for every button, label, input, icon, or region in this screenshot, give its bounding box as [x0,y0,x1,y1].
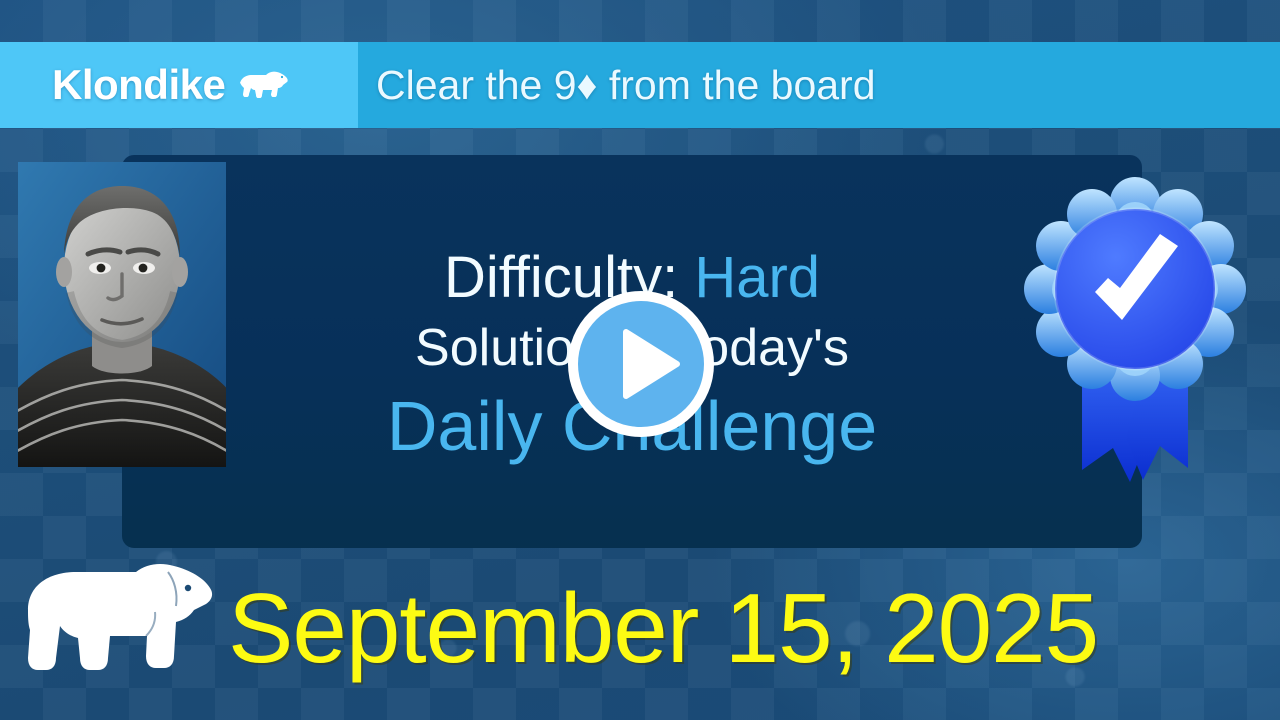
polar-bear-logo [18,552,228,682]
award-rosette-check-icon [1010,160,1260,530]
brand-title: Klondike [52,61,225,109]
header-bar: Klondike Clear the 9♦ from the board [0,42,1280,128]
polar-bear-icon [237,68,289,102]
avatar [18,162,226,467]
challenge-objective-text: Clear the 9♦ from the board [376,62,876,109]
play-button[interactable] [565,288,717,440]
challenge-block: Clear the 9♦ from the board [358,42,1280,128]
brand-block[interactable]: Klondike [0,42,358,128]
date-label: September 15, 2025 [228,572,1280,684]
